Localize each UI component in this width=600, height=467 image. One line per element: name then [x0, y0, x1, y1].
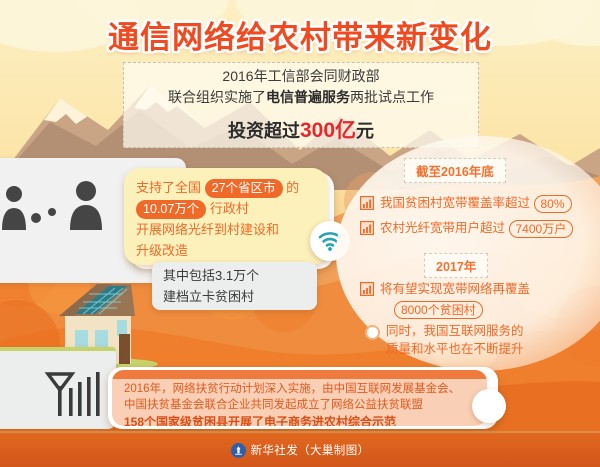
stat-label-4-line2: 质量和水平也在不断提升 — [386, 342, 524, 356]
investment-amount: 300亿 — [300, 119, 356, 142]
signal-bars-icon — [360, 221, 374, 235]
bottom-card-accent-bar — [112, 370, 487, 379]
infographic-poster: 通信网络给农村带来新变化 2016年工信部会同财政部 联合组织实施了电信普遍服务… — [0, 0, 600, 467]
fiber-line-4: 升级改造 — [136, 240, 318, 261]
stat-value-3: 8000个贫困村 — [394, 301, 483, 319]
stat-text-broadband-coverage: 我国贫困村宽带覆盖率超过 80% — [380, 194, 572, 213]
stat-item-broadband-coverage: 我国贫困村宽带覆盖率超过 80% — [360, 194, 572, 213]
signal-bars-icon — [360, 282, 374, 296]
footer: 新华社发（大巢制图） — [0, 433, 600, 467]
bottom-line-3: 158个国家级贫困县开展了电子商务进农村综合示范 — [124, 413, 475, 426]
stat-label-1: 我国贫困村宽带覆盖率超过 — [380, 196, 530, 210]
year-tag-2016: 截至2016年底 — [404, 158, 506, 183]
header-line-1: 2016年工信部会同财政部 — [222, 66, 379, 86]
fiber-line-1-suffix: 的 — [286, 180, 299, 195]
header-line-2-highlight: 电信普遍服务 — [266, 89, 350, 105]
sub-card-line-2: 建档立卡贫困村 — [163, 286, 317, 307]
province-count-pill: 27个省区市 — [205, 179, 283, 198]
header-investment-line: 投资超过300亿元 — [228, 114, 374, 144]
stat-label-2: 农村光纤宽带用户超过 — [380, 221, 505, 235]
stat-label-4-line1: 同时，我国互联网服务的 — [386, 324, 524, 338]
stat-text-service-quality: 同时，我国互联网服务的 质量和水平也在不断提升 — [386, 322, 524, 358]
stat-item-fiber-users: 农村光纤宽带用户超过 7400万户 — [360, 219, 573, 238]
fiber-line-2: 10.07万个 行政村 — [136, 198, 318, 219]
antenna-panel-accent — [0, 347, 116, 351]
ring-bullet-icon — [365, 325, 380, 340]
stat-text-fiber-users: 农村光纤宽带用户超过 7400万户 — [380, 219, 573, 238]
fiber-line-3: 开展网络光纤到村建设和 — [136, 219, 318, 240]
stat-label-3: 将有望实现宽带网络再覆盖 — [380, 282, 530, 296]
stat-item-service-quality: 同时，我国互联网服务的 质量和水平也在不断提升 — [365, 322, 524, 358]
investment-prefix: 投资超过 — [228, 121, 300, 141]
fiber-line-1-prefix: 支持了全国 — [136, 180, 201, 195]
stat-value-2: 7400万户 — [509, 220, 574, 238]
xinhua-logo-icon — [231, 443, 246, 458]
bottom-line-2: 中国扶贫基金会联合企业共同发起成立了网络公益扶贫联盟 — [124, 397, 475, 413]
poverty-alleviation-card: 2016年，网络扶贫行动计划深入实施，由中国互联网发展基金会、 中国扶贫基金会联… — [112, 370, 487, 426]
bottom-card-notch-circle — [472, 389, 506, 423]
page-title: 通信网络给农村带来新变化 — [0, 12, 600, 57]
sub-card-line-1: 其中包括3.1万个 — [163, 265, 317, 286]
stat-item-2017-target: 将有望实现宽带网络再覆盖 8000个贫困村 — [360, 280, 530, 319]
header-line-2: 联合组织实施了电信普遍服务两批试点工作 — [168, 87, 434, 107]
stat-text-2017-target: 将有望实现宽带网络再覆盖 8000个贫困村 — [380, 280, 530, 319]
poverty-village-card: 其中包括3.1万个 建档立卡贫困村 — [152, 262, 317, 310]
header-line-2-c: 两批试点工作 — [350, 89, 434, 105]
header-line-2-a: 联合组织实施了 — [168, 89, 266, 105]
people-network-icon — [2, 178, 114, 230]
bottom-line-1: 2016年，网络扶贫行动计划深入实施，由中国互联网发展基金会、 — [124, 381, 475, 397]
fiber-coverage-card: 支持了全国 27个省区市 的 10.07万个 行政村 开展网络光纤到村建设和 升… — [124, 168, 328, 265]
stat-value-1: 80% — [534, 195, 572, 213]
village-count-pill: 10.07万个 — [136, 200, 206, 219]
fiber-line-2-suffix: 行政村 — [210, 201, 249, 216]
fiber-line-1: 支持了全国 27个省区市 的 — [136, 177, 318, 198]
investment-unit: 元 — [356, 121, 374, 141]
header-summary-box: 2016年工信部会同财政部 联合组织实施了电信普遍服务两批试点工作 投资超过30… — [123, 62, 479, 148]
year-tag-2017: 2017年 — [424, 253, 488, 278]
footer-credit: 新华社发（大巢制图） — [251, 442, 370, 458]
signal-bars-icon — [360, 196, 374, 210]
antenna-signal-icon — [44, 368, 106, 418]
